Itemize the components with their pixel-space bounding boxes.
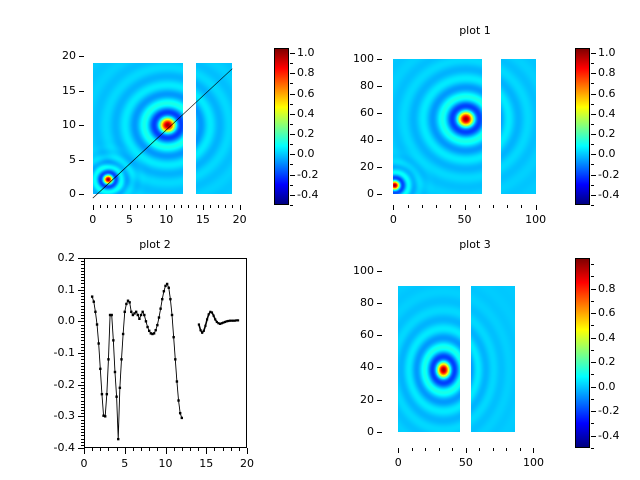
x-tick-minor [100, 205, 101, 208]
data-point-marker [94, 311, 96, 313]
x-tick-minor [466, 448, 467, 451]
y-tick-major [79, 194, 84, 195]
data-point-marker [169, 298, 171, 300]
data-point-marker [174, 358, 176, 360]
y-tick-major [377, 303, 382, 304]
colorbar-tick-minor [591, 264, 594, 265]
colorbar-tick-minor [591, 374, 594, 375]
data-point-marker [124, 311, 126, 313]
panel-plot-3: plot 3 050100020406080100 0.80.60.40.20.… [320, 240, 640, 480]
x-tick-minor [107, 205, 108, 208]
y-tick-minor [81, 442, 84, 443]
x-tick-minor [520, 448, 521, 451]
x-tick-minor [92, 448, 93, 451]
y-tick-minor [81, 309, 84, 310]
colorbar-tick-minor [591, 185, 594, 186]
y-tick-minor [81, 290, 84, 291]
x-tick-minor [115, 205, 116, 208]
colorbar-tick-minor [290, 134, 293, 135]
colorbar-tick-minor [591, 436, 594, 437]
colorbar-tick-minor [591, 387, 594, 388]
x-tick-label: 50 [446, 456, 486, 469]
y-tick-label: 60 [329, 328, 374, 341]
x-tick-minor [141, 448, 142, 451]
x-tick-minor [84, 448, 85, 451]
y-tick-label: 0.0 [30, 314, 75, 327]
y-tick-major [377, 59, 382, 60]
colorbar-tick-minor [591, 134, 594, 135]
colorbar-tick-label: 0.4 [598, 107, 638, 120]
plot-3-heatmap-image [382, 258, 547, 448]
y-tick-minor [81, 363, 84, 364]
x-tick-label: 50 [445, 213, 485, 226]
colorbar-tick-minor [591, 164, 594, 165]
y-tick-minor [81, 264, 84, 265]
y-tick-minor [81, 296, 84, 297]
x-tick-label: 10 [146, 213, 186, 226]
x-tick-minor [149, 448, 150, 451]
x-tick-minor [536, 205, 537, 208]
x-tick-minor [533, 448, 534, 451]
y-tick-major [79, 160, 84, 161]
colorbar-tick-minor [591, 144, 594, 145]
x-tick-minor [166, 205, 167, 208]
y-tick-minor [81, 337, 84, 338]
x-tick-minor [190, 448, 191, 451]
plot-3-colorbar-image [576, 259, 589, 447]
x-tick-minor [122, 205, 123, 208]
colorbar-tick-minor [591, 313, 594, 314]
y-tick-minor [81, 426, 84, 427]
x-tick-minor [100, 448, 101, 451]
y-tick-label: 0.2 [30, 251, 75, 264]
y-tick-minor [81, 391, 84, 392]
data-point-marker [97, 342, 99, 344]
y-tick-label: 20 [329, 160, 374, 173]
y-tick-minor [81, 404, 84, 405]
y-tick-minor [81, 328, 84, 329]
y-tick-minor [81, 274, 84, 275]
data-point-marker [145, 320, 147, 322]
y-tick-label: 40 [329, 133, 374, 146]
y-tick-minor [81, 366, 84, 367]
data-point-marker [168, 287, 170, 289]
y-tick-major [79, 56, 84, 57]
colorbar-tick-label: 0.2 [598, 127, 638, 140]
data-point-marker [208, 313, 210, 315]
data-point-marker [198, 323, 200, 325]
x-tick-minor [479, 448, 480, 451]
y-tick-minor [81, 340, 84, 341]
x-tick-minor [159, 205, 160, 208]
y-tick-label: 40 [329, 360, 374, 373]
colorbar-tick-minor [290, 73, 293, 74]
y-tick-minor [81, 287, 84, 288]
x-tick-minor [398, 448, 399, 451]
colorbar-tick-minor [591, 423, 594, 424]
colorbar-tick-minor [591, 448, 594, 449]
y-tick-minor [81, 258, 84, 259]
data-point-marker [93, 301, 95, 303]
plot-1-heatmap-image [382, 48, 547, 205]
colorbar-tick-minor [591, 124, 594, 125]
x-tick-minor [240, 205, 241, 208]
x-tick-minor [218, 205, 219, 208]
data-point-marker [104, 415, 106, 417]
x-tick-label: 100 [513, 456, 553, 469]
data-point-marker [99, 368, 101, 370]
colorbar-tick-minor [290, 154, 293, 155]
data-point-marker [176, 380, 178, 382]
data-point-marker [158, 316, 160, 318]
colorbar-tick-minor [591, 154, 594, 155]
x-tick-minor [174, 448, 175, 451]
x-tick-minor [452, 448, 453, 451]
x-tick-minor [133, 448, 134, 451]
y-tick-label: 100 [329, 52, 374, 65]
data-point-marker [107, 358, 109, 360]
colorbar-tick-minor [591, 411, 594, 412]
colorbar-tick-minor [591, 175, 594, 176]
x-tick-minor [231, 448, 232, 451]
y-tick-label: 10 [31, 118, 76, 131]
y-tick-minor [81, 325, 84, 326]
x-tick-minor [198, 448, 199, 451]
data-point-marker [122, 333, 124, 335]
x-tick-minor [507, 205, 508, 208]
colorbar-tick-label: 0.4 [598, 331, 638, 344]
colorbar-tick-minor [290, 185, 293, 186]
data-point-marker [153, 332, 155, 334]
colorbar-tick-label: 0.6 [598, 87, 638, 100]
colorbar-tick-minor [290, 114, 293, 115]
panel-plot-2: plot 2 051015200.20.10.0-0.1-0.2-0.3-0.4 [0, 240, 320, 480]
data-point-marker [171, 314, 173, 316]
data-point-marker [163, 290, 165, 292]
data-point-marker [106, 393, 108, 395]
colorbar-tick-minor [290, 63, 293, 64]
colorbar-tick-label: 0.2 [598, 355, 638, 368]
panel-plot-1: plot 1 050100020406080100 1.00.80.60.40.… [320, 0, 640, 240]
y-tick-label: -0.4 [30, 441, 75, 454]
plot-1-title: plot 1 [410, 24, 540, 37]
y-tick-major [377, 86, 382, 87]
data-point-marker [212, 315, 214, 317]
y-tick-label: 20 [31, 49, 76, 62]
colorbar-tick-minor [591, 289, 594, 290]
x-tick-minor [188, 205, 189, 208]
y-tick-minor [81, 306, 84, 307]
data-point-marker [112, 339, 114, 341]
y-tick-minor [81, 271, 84, 272]
y-tick-minor [81, 382, 84, 383]
x-tick-minor [144, 205, 145, 208]
colorbar-tick-minor [591, 63, 594, 64]
y-tick-minor [81, 385, 84, 386]
data-point-marker [214, 318, 216, 320]
x-tick-minor [210, 205, 211, 208]
y-tick-label: 0 [329, 187, 374, 200]
x-tick-minor [223, 448, 224, 451]
data-point-marker [119, 387, 121, 389]
colorbar-tick-minor [591, 53, 594, 54]
colorbar-tick-label: 0.8 [598, 282, 638, 295]
x-tick-minor [214, 448, 215, 451]
y-tick-label: 0 [31, 187, 76, 200]
y-tick-minor [81, 429, 84, 430]
colorbar-tick-label: -0.2 [598, 168, 638, 181]
data-point-marker [125, 303, 127, 305]
y-tick-minor [81, 353, 84, 354]
y-tick-major [377, 113, 382, 114]
colorbar-tick-label: 1.0 [598, 46, 638, 59]
x-tick-minor [203, 205, 204, 208]
data-point-marker [114, 371, 116, 373]
y-tick-label: 15 [31, 84, 76, 97]
y-tick-minor [81, 378, 84, 379]
data-point-marker [237, 319, 239, 321]
x-tick-minor [239, 448, 240, 451]
plot-2-title: plot 2 [100, 238, 210, 251]
data-point-marker [115, 396, 117, 398]
y-tick-minor [81, 401, 84, 402]
colorbar-tick-minor [591, 104, 594, 105]
y-tick-minor [81, 432, 84, 433]
y-tick-minor [81, 261, 84, 262]
colorbar-tick-minor [290, 144, 293, 145]
y-tick-minor [81, 312, 84, 313]
x-tick-minor [422, 205, 423, 208]
colorbar-tick-minor [591, 350, 594, 351]
x-tick-label: 15 [183, 213, 223, 226]
y-tick-minor [81, 369, 84, 370]
colorbar-tick-minor [591, 325, 594, 326]
y-tick-minor [81, 420, 84, 421]
data-point-marker [156, 324, 158, 326]
x-tick-minor [152, 205, 153, 208]
x-tick-minor [493, 205, 494, 208]
y-tick-label: 5 [31, 153, 76, 166]
y-tick-minor [81, 302, 84, 303]
colorbar-tick-minor [591, 338, 594, 339]
x-tick-minor [182, 448, 183, 451]
x-tick-minor [196, 205, 197, 208]
x-tick-label: 0 [64, 457, 104, 470]
data-point-marker [117, 438, 119, 440]
data-point-marker [179, 412, 181, 414]
x-tick-label: 100 [516, 213, 556, 226]
colorbar-tick-minor [591, 73, 594, 74]
colorbar-tick-label: 0.8 [598, 66, 638, 79]
y-tick-minor [81, 413, 84, 414]
y-tick-minor [81, 394, 84, 395]
x-tick-minor [181, 205, 182, 208]
data-point-marker [101, 393, 103, 395]
y-tick-minor [81, 283, 84, 284]
y-tick-minor [81, 423, 84, 424]
data-point-marker [177, 399, 179, 401]
colorbar-tick-minor [290, 195, 293, 196]
x-tick-minor [439, 448, 440, 451]
data-point-marker [206, 318, 208, 320]
data-point-marker [181, 417, 183, 419]
colorbar-tick-minor [591, 301, 594, 302]
y-tick-major [377, 367, 382, 368]
x-tick-minor [493, 448, 494, 451]
y-tick-major [79, 91, 84, 92]
colorbar-tick-minor [591, 114, 594, 115]
colorbar-tick-label: 0.0 [598, 380, 638, 393]
y-tick-label: 100 [329, 264, 374, 277]
colorbar-tick-minor [290, 205, 293, 206]
x-tick-label: 0 [378, 456, 418, 469]
y-tick-minor [81, 331, 84, 332]
y-tick-major [79, 125, 84, 126]
x-tick-minor [465, 205, 466, 208]
x-tick-label: 10 [146, 457, 186, 470]
y-tick-minor [81, 388, 84, 389]
y-tick-minor [81, 350, 84, 351]
y-tick-major [377, 432, 382, 433]
y-tick-minor [81, 435, 84, 436]
data-point-marker [201, 332, 203, 334]
x-tick-label: 5 [110, 213, 150, 226]
colorbar-tick-minor [290, 83, 293, 84]
data-point-marker [203, 330, 205, 332]
colorbar-tick-minor [290, 53, 293, 54]
colorbar-tick-minor [591, 83, 594, 84]
x-tick-minor [479, 205, 480, 208]
data-point-marker [91, 295, 93, 297]
data-point-marker [148, 330, 150, 332]
x-tick-minor [125, 448, 126, 451]
data-point-marker [161, 298, 163, 300]
x-tick-minor [232, 205, 233, 208]
colorbar-tick-minor [290, 94, 293, 95]
colorbar-tick-minor [290, 124, 293, 125]
plot-3-title: plot 3 [410, 238, 540, 251]
plot-1-colorbar-image [576, 49, 589, 204]
data-point-marker [111, 314, 113, 316]
y-tick-minor [81, 280, 84, 281]
x-tick-minor [137, 205, 138, 208]
y-tick-minor [81, 321, 84, 322]
y-tick-label: 60 [329, 106, 374, 119]
colorbar-tick-minor [591, 276, 594, 277]
y-tick-minor [81, 347, 84, 348]
y-tick-label: 0.1 [30, 283, 75, 296]
data-point-marker [128, 301, 130, 303]
x-tick-minor [108, 448, 109, 451]
colorbar-tick-minor [591, 94, 594, 95]
data-point-marker [120, 358, 122, 360]
y-tick-minor [81, 445, 84, 446]
colorbar-tick-label: -0.4 [598, 429, 638, 442]
y-tick-minor [81, 407, 84, 408]
x-tick-minor [412, 448, 413, 451]
colorbar-tick-minor [290, 175, 293, 176]
y-tick-major [377, 167, 382, 168]
colorbar-tick-minor [290, 164, 293, 165]
panel-plot-0: 0510152005101520 1.00.80.60.40.20.0-0.2-… [0, 0, 320, 240]
colorbar-tick-label: 0.0 [598, 147, 638, 160]
colorbar-tick-label: -0.2 [598, 404, 638, 417]
y-tick-minor [81, 356, 84, 357]
y-tick-minor [81, 397, 84, 398]
data-point-marker [140, 314, 142, 316]
y-tick-label: 20 [329, 393, 374, 406]
colorbar-tick-minor [290, 104, 293, 105]
y-tick-minor [81, 277, 84, 278]
data-point-marker [130, 311, 132, 313]
plot-2-line-series [84, 258, 247, 448]
y-tick-major [377, 194, 382, 195]
x-tick-minor [93, 205, 94, 208]
data-point-marker [146, 326, 148, 328]
y-tick-minor [81, 293, 84, 294]
y-tick-minor [81, 375, 84, 376]
x-tick-minor [425, 448, 426, 451]
data-point-marker [166, 283, 168, 285]
data-point-marker [172, 336, 174, 338]
x-tick-minor [393, 205, 394, 208]
x-tick-label: 0 [373, 213, 413, 226]
data-point-marker [138, 318, 140, 320]
y-tick-major [377, 335, 382, 336]
x-tick-label: 5 [105, 457, 145, 470]
x-tick-minor [166, 448, 167, 451]
data-point-marker [143, 314, 145, 316]
colorbar-tick-minor [591, 195, 594, 196]
data-point-marker [96, 323, 98, 325]
x-tick-label: 20 [227, 457, 267, 470]
plot-0-overlay-line [84, 48, 247, 205]
data-point-marker [137, 314, 139, 316]
y-tick-major [377, 140, 382, 141]
y-tick-minor [81, 372, 84, 373]
y-tick-major [377, 271, 382, 272]
y-tick-minor [81, 334, 84, 335]
y-tick-minor [81, 299, 84, 300]
y-tick-minor [81, 315, 84, 316]
data-point-marker [135, 311, 137, 313]
colorbar-tick-label: 0.6 [598, 306, 638, 319]
data-point-marker [199, 329, 201, 331]
y-tick-label: 0 [329, 425, 374, 438]
colorbar-tick-minor [591, 205, 594, 206]
y-tick-minor [81, 448, 84, 449]
plot-0-colorbar-image [275, 49, 288, 204]
x-tick-minor [174, 205, 175, 208]
y-tick-major [377, 400, 382, 401]
y-tick-minor [81, 410, 84, 411]
data-point-marker [211, 311, 213, 313]
data-point-marker [155, 329, 157, 331]
y-tick-minor [81, 439, 84, 440]
x-tick-label: 20 [220, 213, 260, 226]
data-point-marker [159, 307, 161, 309]
x-tick-minor [408, 205, 409, 208]
colorbar-tick-minor [591, 362, 594, 363]
y-tick-label: 80 [329, 79, 374, 92]
x-tick-minor [506, 448, 507, 451]
x-tick-minor [521, 205, 522, 208]
y-tick-minor [81, 268, 84, 269]
x-tick-label: 15 [186, 457, 226, 470]
x-tick-minor [247, 448, 248, 451]
x-tick-minor [225, 205, 226, 208]
y-tick-minor [81, 416, 84, 417]
